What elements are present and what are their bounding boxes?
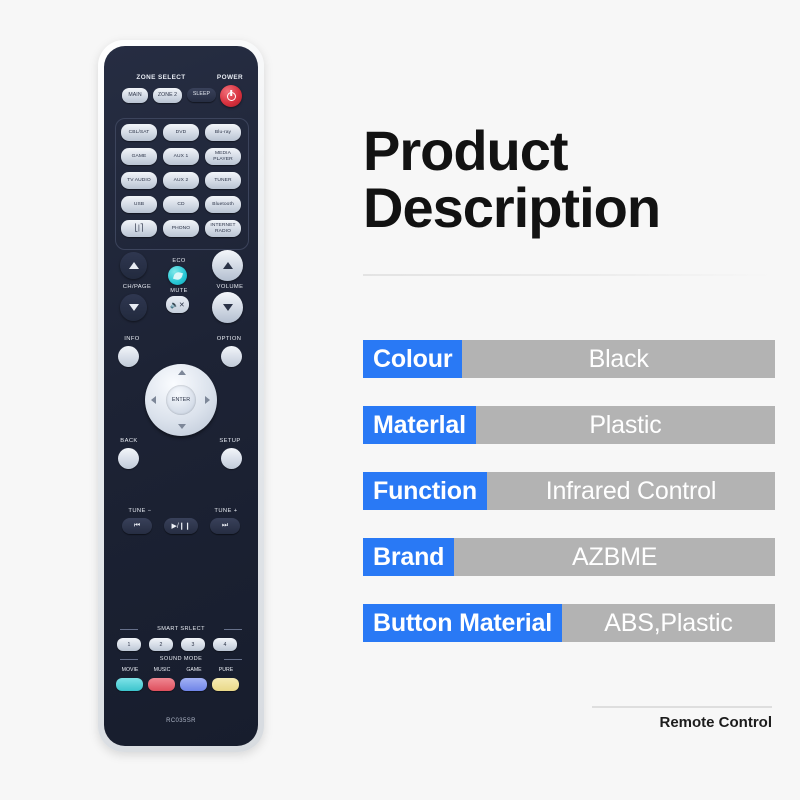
smart-select-button-2[interactable]: 2 — [149, 638, 173, 651]
source-button-game[interactable]: GAME — [121, 148, 157, 165]
divider — [224, 659, 242, 660]
source-button-group: CBL/SAT DVD Blu-ray GAME AUX 1 MEDIA PLA… — [115, 118, 249, 250]
spec-value: Black — [462, 340, 775, 378]
play-pause-button[interactable]: ▶/❙❙ — [164, 518, 198, 534]
channel-page-down-button[interactable] — [120, 294, 147, 321]
triangle-up-icon — [223, 262, 233, 269]
remote-body: ZONE SELECT POWER MAIN ZONE 2 SLEEP CBL/… — [104, 46, 258, 746]
spec-row-material: Materlal Plastic — [363, 406, 775, 444]
source-button-tv-audio[interactable]: TV AUDIO — [121, 172, 157, 189]
smart-select-button-1[interactable]: 1 — [117, 638, 141, 651]
remote-control-image: ZONE SELECT POWER MAIN ZONE 2 SLEEP CBL/… — [98, 40, 264, 752]
setup-button[interactable] — [221, 448, 242, 469]
footer-caption: Remote Control — [572, 714, 772, 731]
source-button-aux2[interactable]: AUX 2 — [163, 172, 199, 189]
back-label: BACK — [108, 438, 150, 444]
triangle-down-icon — [223, 304, 233, 311]
triangle-up-icon — [129, 262, 139, 269]
button-sleep[interactable]: SLEEP — [187, 88, 216, 102]
spec-key: Materlal — [363, 406, 476, 444]
navigation-dpad[interactable]: ENTER — [145, 364, 217, 436]
mute-button[interactable]: 🔈✕ — [166, 296, 189, 313]
smart-select-button-4[interactable]: 4 — [213, 638, 237, 651]
volume-up-button[interactable] — [212, 250, 243, 281]
page-title-line1: Product — [363, 122, 773, 179]
spec-row-button-material: Button Material ABS,Plastic — [363, 604, 775, 642]
info-label: INFO — [110, 336, 154, 342]
skip-previous-button[interactable]: ⏮ — [122, 518, 152, 534]
setup-label: SETUP — [204, 438, 256, 444]
spec-key: Colour — [363, 340, 462, 378]
spec-value: Plastic — [476, 406, 775, 444]
smart-select-button-3[interactable]: 3 — [181, 638, 205, 651]
spec-row-function: Function Infrared Control — [363, 472, 775, 510]
tune-minus-label: TUNE − — [118, 508, 162, 514]
volume-label: VOLUME — [204, 284, 256, 290]
spec-value: Infrared Control — [487, 472, 775, 510]
speaker-mute-icon: 🔈✕ — [170, 301, 185, 309]
source-button-bluetooth[interactable]: Bluetooth — [205, 196, 241, 213]
sound-mode-label-pure: PURE — [211, 667, 241, 673]
sound-mode-button-music[interactable] — [148, 678, 175, 691]
sound-mode-label: SOUND MODE — [126, 656, 236, 662]
spec-key: Button Material — [363, 604, 562, 642]
spec-table: Colour Black Materlal Plastic Function I… — [363, 340, 775, 670]
power-label: POWER — [208, 74, 252, 81]
dpad-right-icon[interactable] — [205, 396, 210, 404]
dpad-up-icon[interactable] — [178, 370, 186, 375]
source-button-phono[interactable]: PHONO — [163, 220, 199, 237]
spec-key: Function — [363, 472, 487, 510]
triangle-down-icon — [129, 304, 139, 311]
zone-select-label: ZONE SELECT — [122, 74, 200, 81]
option-button[interactable] — [221, 346, 242, 367]
sound-mode-label-game: GAME — [179, 667, 209, 673]
button-main[interactable]: MAIN — [122, 88, 148, 103]
source-button-aux1[interactable]: AUX 1 — [163, 148, 199, 165]
info-button[interactable] — [118, 346, 139, 367]
enter-button[interactable]: ENTER — [166, 385, 196, 415]
spec-row-colour: Colour Black — [363, 340, 775, 378]
source-button-blu-ray[interactable]: Blu-ray — [205, 124, 241, 141]
eco-label: ECO — [156, 258, 202, 264]
skip-next-button[interactable]: ⏭ — [210, 518, 240, 534]
title-divider — [363, 274, 773, 276]
power-button[interactable] — [220, 85, 242, 107]
power-icon — [227, 92, 236, 101]
source-button-media-player[interactable]: MEDIA PLAYER — [205, 148, 241, 165]
source-button-internet-radio[interactable]: INTERNET RADIO — [205, 220, 241, 237]
spec-value: ABS,Plastic — [562, 604, 775, 642]
eco-button[interactable] — [168, 266, 187, 285]
dpad-down-icon[interactable] — [178, 424, 186, 429]
model-number: RC035SR — [104, 718, 258, 724]
source-button-tuner[interactable]: TUNER — [205, 172, 241, 189]
volume-down-button[interactable] — [212, 292, 243, 323]
product-description-page: ZONE SELECT POWER MAIN ZONE 2 SLEEP CBL/… — [0, 0, 800, 800]
button-zone2[interactable]: ZONE 2 — [153, 88, 182, 103]
tune-plus-label: TUNE + — [202, 508, 250, 514]
sound-mode-label-movie: MOVIE — [115, 667, 145, 673]
spec-key: Brand — [363, 538, 454, 576]
sound-mode-label-music: MUSIC — [147, 667, 177, 673]
option-label: OPTION — [204, 336, 254, 342]
spec-row-brand: Brand AZBME — [363, 538, 775, 576]
back-button[interactable] — [118, 448, 139, 469]
divider — [224, 629, 242, 630]
source-button-dvd[interactable]: DVD — [163, 124, 199, 141]
footer-divider — [592, 706, 772, 708]
channel-page-label: CH/PAGE — [110, 284, 164, 290]
dpad-left-icon[interactable] — [151, 396, 156, 404]
smart-select-label: SMART SRLECT — [126, 626, 236, 632]
source-button-usb[interactable]: USB — [121, 196, 157, 213]
sound-mode-button-movie[interactable] — [116, 678, 143, 691]
source-button-cbl-sat[interactable]: CBL/SAT — [121, 124, 157, 141]
description-panel: Product Description Colour Black Materla… — [360, 0, 780, 800]
page-title-line2: Description — [363, 179, 773, 236]
sound-mode-button-pure[interactable] — [212, 678, 239, 691]
spec-value: AZBME — [454, 538, 775, 576]
page-title: Product Description — [363, 122, 773, 236]
channel-page-up-button[interactable] — [120, 252, 147, 279]
leaf-icon — [172, 270, 182, 280]
source-button-heos[interactable]: ⎣|⎤ — [121, 220, 157, 237]
sound-mode-button-game[interactable] — [180, 678, 207, 691]
source-button-cd[interactable]: CD — [163, 196, 199, 213]
